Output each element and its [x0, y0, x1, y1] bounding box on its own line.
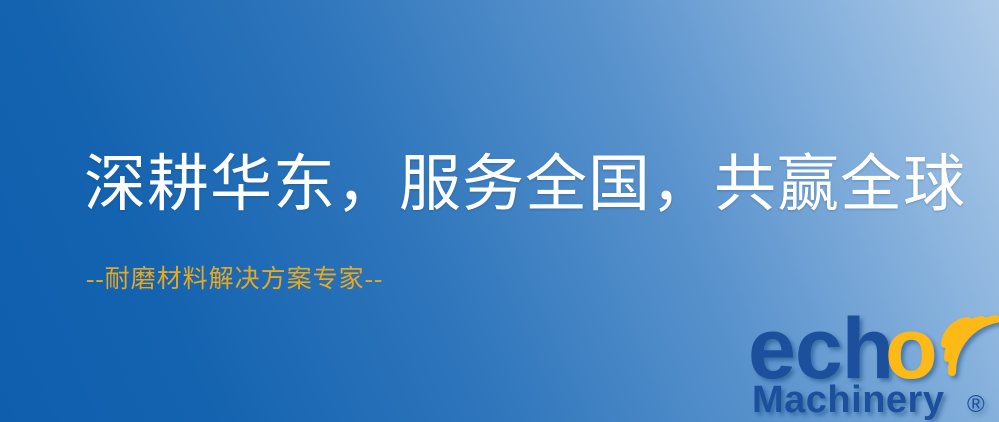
logo-tagline: Machinery [752, 379, 944, 421]
echo-wave-icon [945, 319, 996, 372]
page-subtitle: --耐磨材料解决方案专家-- [86, 266, 383, 294]
logo-registered-mark: ® [967, 391, 985, 418]
echo-machinery-logo[interactable]: ech o Machinery ® [748, 296, 999, 422]
hero-banner: 深耕华东，服务全国，共赢全球 --耐磨材料解决方案专家-- ech o [0, 0, 999, 422]
page-title: 深耕华东，服务全国，共赢全球 [84, 152, 966, 219]
